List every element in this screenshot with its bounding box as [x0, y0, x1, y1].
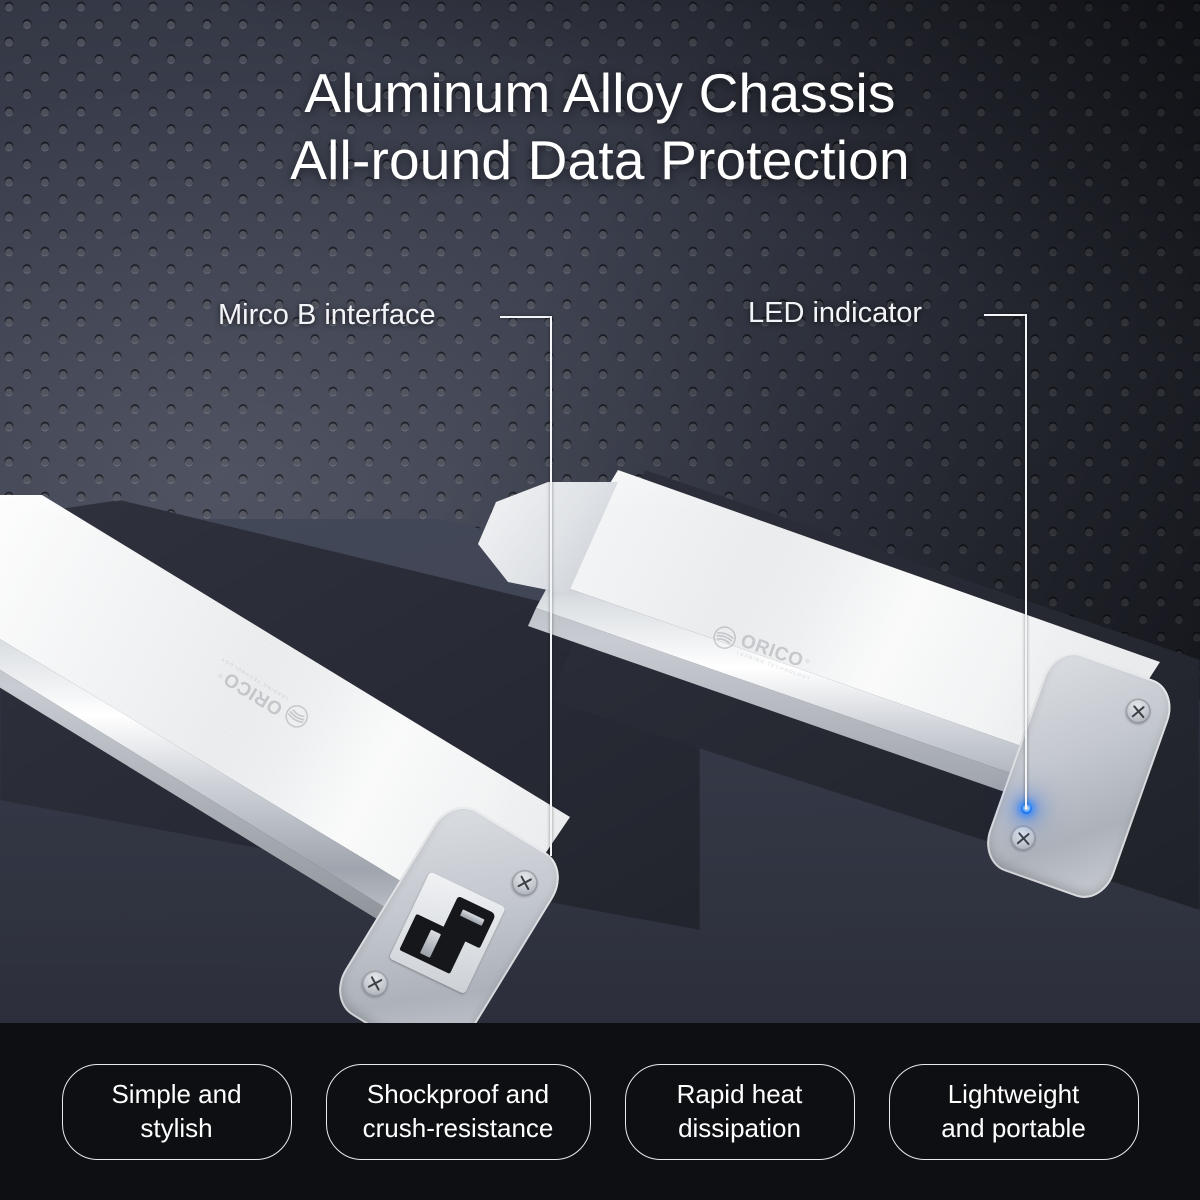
callout-leader-led-horizontal	[984, 314, 1026, 316]
headline: Aluminum Alloy Chassis All-round Data Pr…	[0, 60, 1200, 194]
feature-bar: Simple and stylish Shockproof and crush-…	[0, 1023, 1200, 1200]
feature-2-line-1: Rapid heat	[677, 1078, 803, 1111]
feature-pill-lightweight[interactable]: Lightweight and portable	[889, 1064, 1139, 1160]
feature-2-line-2: dissipation	[677, 1112, 803, 1145]
headline-line-2: All-round Data Protection	[0, 127, 1200, 194]
feature-pill-heat-dissipation[interactable]: Rapid heat dissipation	[625, 1064, 855, 1160]
feature-1-line-1: Shockproof and	[363, 1078, 554, 1111]
headline-line-1: Aluminum Alloy Chassis	[0, 60, 1200, 127]
orico-registered-right: ®	[804, 658, 810, 665]
feature-3-line-1: Lightweight	[941, 1078, 1086, 1111]
feature-pill-simple-stylish[interactable]: Simple and stylish	[62, 1064, 292, 1160]
feature-pill-shockproof[interactable]: Shockproof and crush-resistance	[326, 1064, 591, 1160]
callout-leader-usb-horizontal	[500, 316, 552, 318]
feature-0-line-2: stylish	[111, 1112, 241, 1145]
callout-leader-led-vertical	[1025, 314, 1027, 809]
callout-label-usb: Mirco B interface	[218, 299, 436, 332]
feature-3-line-2: and portable	[941, 1112, 1086, 1145]
orico-enclosure-left: ORICO® LEADING TECHNOLOGY	[0, 495, 680, 975]
callout-label-led: LED indicator	[748, 297, 922, 330]
feature-1-line-2: crush-resistance	[363, 1112, 554, 1145]
callout-leader-usb-vertical	[550, 316, 552, 856]
product-marketing-image: ORICO® LEADING TECHNOLOGY	[0, 0, 1200, 1200]
feature-0-line-1: Simple and	[111, 1078, 241, 1111]
